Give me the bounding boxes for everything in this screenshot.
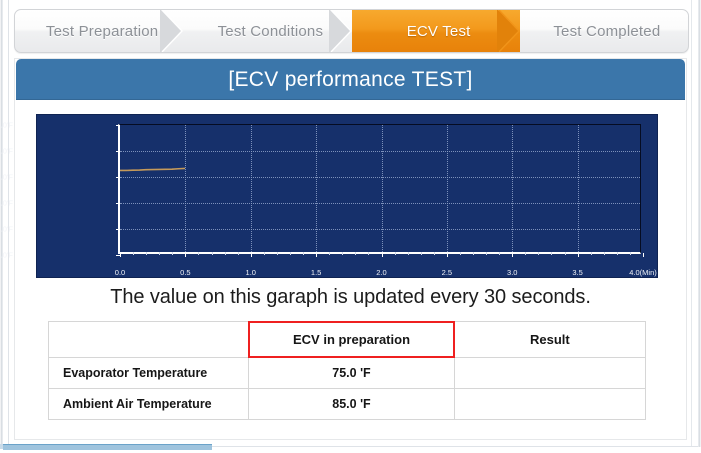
table-header-text: ECV in preparation <box>293 332 410 347</box>
chart-y-tick-label: 32.0'F <box>0 225 13 234</box>
chart-x-minor-tick <box>473 252 474 255</box>
chart-hgrid-line <box>120 229 640 230</box>
chart-vgrid-line <box>382 125 383 252</box>
chart-x-minor-tick <box>198 252 199 255</box>
chart-x-minor-tick <box>368 252 369 255</box>
chart-hgrid-line <box>120 177 640 178</box>
row-label-evaporator-temperature: Evaporator Temperature <box>49 358 249 389</box>
table-header-row: ECV in preparation Result <box>49 322 646 358</box>
chart-x-minor-tick <box>290 252 291 255</box>
chart-x-tick-label: 2.0 <box>376 268 386 277</box>
page-title: [ECV performance TEST] <box>16 59 685 100</box>
window-left-inner-border <box>8 0 9 447</box>
chart-x-minor-tick <box>460 252 461 255</box>
chart-y-tick-label: 14.0'F <box>0 251 13 260</box>
chart-x-minor-tick <box>238 252 239 255</box>
row-value-ambient-air-temperature: 85.0 'F <box>249 389 454 420</box>
chart-x-tick <box>447 253 448 257</box>
table-row: Ambient Air Temperature 85.0 'F <box>49 389 646 420</box>
chart-x-minor-tick <box>395 252 396 255</box>
chart-x-minor-tick <box>225 252 226 255</box>
chevron-left-notch-icon <box>351 10 371 52</box>
results-table: ECV in preparation Result Evaporator Tem… <box>48 321 646 420</box>
row-result-evaporator-temperature <box>454 358 645 389</box>
chart-x-minor-tick <box>551 252 552 255</box>
row-result-ambient-air-temperature <box>454 389 645 420</box>
chart-y-tick-label: 104.0'F <box>0 121 13 130</box>
chart-y-tick <box>116 203 120 204</box>
chart-x-minor-tick <box>303 252 304 255</box>
chevron-right-icon <box>162 10 184 52</box>
chart-hgrid-line <box>120 151 640 152</box>
row-label-ambient-air-temperature: Ambient Air Temperature <box>49 389 249 420</box>
chart-x-minor-tick <box>264 252 265 255</box>
chart-x-tick <box>120 253 121 257</box>
chart-x-tick-label: 1.0 <box>246 268 256 277</box>
chart-series-line <box>120 125 640 252</box>
step-test-preparation[interactable]: Test Preparation <box>15 10 183 52</box>
temperature-chart: 104.0'F86.0'F68.0'F50.0'F32.0'F14.0'F0.0… <box>36 114 658 278</box>
update-notice: The value on this garaph is updated ever… <box>0 286 701 309</box>
chart-hgrid-line <box>120 203 640 204</box>
chart-x-tick-label: 1.5 <box>311 268 321 277</box>
chart-x-minor-tick <box>342 252 343 255</box>
chart-vgrid-line <box>447 125 448 252</box>
chart-vgrid-line <box>512 125 513 252</box>
table-header-blank <box>49 322 249 358</box>
window-left-border <box>0 0 3 447</box>
step-ecv-test[interactable]: ECV Test <box>352 10 520 52</box>
chart-x-minor-tick <box>355 252 356 255</box>
chart-y-tick-label: 50.0'F <box>0 199 13 208</box>
chart-vgrid-line <box>251 125 252 252</box>
chart-x-tick <box>512 253 513 257</box>
chart-vgrid-line <box>578 125 579 252</box>
row-value-evaporator-temperature: 75.0 'F <box>249 358 454 389</box>
chart-x-tick-label: 4.0(Min) <box>629 268 657 277</box>
chart-x-minor-tick <box>499 252 500 255</box>
step-test-conditions[interactable]: Test Conditions <box>183 10 351 52</box>
chart-y-tick <box>116 177 120 178</box>
step-test-completed[interactable]: Test Completed <box>520 10 688 52</box>
chart-vgrid-line <box>185 125 186 252</box>
table-header-ecv-in-preparation: ECV in preparation <box>249 322 454 358</box>
chart-y-tick <box>116 151 120 152</box>
chart-x-tick <box>251 253 252 257</box>
chevron-right-icon <box>499 10 521 52</box>
chart-x-tick-label: 3.0 <box>507 268 517 277</box>
chart-x-minor-tick <box>591 252 592 255</box>
chart-x-tick-label: 2.5 <box>442 268 452 277</box>
chart-x-minor-tick <box>212 252 213 255</box>
chart-plot-area: 104.0'F86.0'F68.0'F50.0'F32.0'F14.0'F0.0… <box>118 124 641 254</box>
chart-x-tick-label: 3.5 <box>572 268 582 277</box>
breadcrumb: Test Preparation Test Conditions ECV Tes… <box>14 9 689 53</box>
chart-x-minor-tick <box>434 252 435 255</box>
status-strip <box>3 444 212 450</box>
chart-x-tick <box>578 253 579 257</box>
chart-x-minor-tick <box>329 252 330 255</box>
chart-x-tick <box>316 253 317 257</box>
chart-y-tick <box>116 125 120 126</box>
chart-x-minor-tick <box>277 252 278 255</box>
chart-x-minor-tick <box>146 252 147 255</box>
chart-x-tick-label: 0.5 <box>180 268 190 277</box>
chart-x-minor-tick <box>538 252 539 255</box>
table-row: Evaporator Temperature 75.0 'F <box>49 358 646 389</box>
chart-x-tick <box>185 253 186 257</box>
table-header-result: Result <box>454 322 645 358</box>
step-label: Test Conditions <box>212 23 324 40</box>
chart-x-minor-tick <box>565 252 566 255</box>
update-notice-text: The value on this garaph is updated ever… <box>110 286 591 308</box>
chart-x-minor-tick <box>617 252 618 255</box>
step-label: Test Completed <box>547 23 660 40</box>
chart-x-minor-tick <box>408 252 409 255</box>
chart-x-minor-tick <box>159 252 160 255</box>
window-right-inner-border <box>691 0 692 447</box>
step-label: Test Preparation <box>40 23 158 40</box>
chart-y-tick-label: 86.0'F <box>0 147 13 156</box>
chart-x-minor-tick <box>486 252 487 255</box>
chart-x-tick <box>643 253 644 257</box>
chart-x-minor-tick <box>630 252 631 255</box>
chart-x-minor-tick <box>133 252 134 255</box>
chart-y-tick <box>116 229 120 230</box>
chart-y-tick-label: 68.0'F <box>0 173 13 182</box>
chart-x-minor-tick <box>421 252 422 255</box>
chart-x-minor-tick <box>172 252 173 255</box>
ecv-test-page: Test Preparation Test Conditions ECV Tes… <box>0 0 701 453</box>
step-label: ECV Test <box>401 23 471 40</box>
chart-x-tick <box>382 253 383 257</box>
chart-x-minor-tick <box>604 252 605 255</box>
chevron-right-icon <box>331 10 353 52</box>
chart-x-minor-tick <box>525 252 526 255</box>
chart-vgrid-line <box>316 125 317 252</box>
page-title-text: [ECV performance TEST] <box>228 68 472 92</box>
chart-x-tick-label: 0.0 <box>115 268 125 277</box>
